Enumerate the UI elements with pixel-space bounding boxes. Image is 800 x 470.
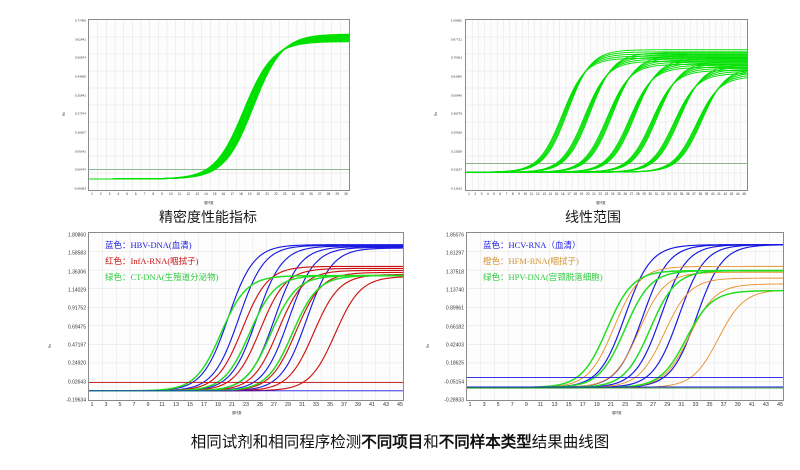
x-tick-label: 7	[511, 403, 514, 408]
x-tick-label: 2	[100, 193, 102, 196]
main-caption-part-0: 相同试剂和相同程序检测	[191, 434, 362, 451]
x-tick-label: 23	[605, 193, 609, 196]
y-tick-label: -0.08383	[74, 187, 86, 190]
x-tick-label: 5	[493, 193, 495, 196]
x-tick-label: 8	[152, 193, 154, 196]
x-tick-label: 39	[355, 403, 361, 408]
x-tick-label: 4	[117, 193, 119, 196]
chart-panel-linearity: Rn 1.000820.877210.753610.630000.506400.…	[428, 8, 758, 228]
x-tick-label: 27	[318, 193, 322, 196]
precision-y-tick-labels: 0.774080.629410.506740.446060.358410.270…	[58, 21, 86, 189]
x-tick-label: 19	[248, 193, 252, 196]
y-tick-label: 0.00474	[75, 169, 86, 172]
x-tick-label: 14	[548, 193, 552, 196]
x-tick-label: 32	[661, 193, 665, 196]
x-tick-label: 19	[594, 403, 600, 408]
x-tick-label: 38	[698, 193, 702, 196]
x-tick-label: 2	[474, 193, 476, 196]
x-tick-label: 16	[561, 193, 565, 196]
y-tick-label: 0.25918	[451, 131, 462, 134]
y-tick-label: -0.05154	[444, 380, 464, 385]
x-tick-label: 1	[91, 403, 94, 408]
x-tick-label: 15	[213, 193, 217, 196]
swab-legend: 蓝色：HCV-RNA（血清） 橙色：HFM-RNA(咽拭子) 绿色：HPV-DN…	[483, 237, 603, 285]
x-tick-label: 1	[468, 193, 470, 196]
y-tick-label: 0.13558	[451, 150, 462, 153]
y-tick-label: 0.62941	[75, 38, 86, 41]
serum-legend: 蓝色：HBV-DNA(血清) 红色：InfA-RNA(咽拭子) 绿色：CT-DN…	[105, 237, 219, 285]
x-tick-label: 9	[161, 193, 163, 196]
x-tick-label: 30	[344, 193, 348, 196]
precision-plot-frame	[88, 19, 350, 191]
x-tick-label: 6	[499, 193, 501, 196]
x-tick-label: 29	[664, 403, 670, 408]
x-tick-label: 11	[159, 403, 165, 408]
y-tick-label: 1.58583	[68, 252, 86, 257]
x-tick-label: 18	[573, 193, 577, 196]
main-caption-part-2: 和	[423, 434, 439, 451]
y-tick-label: 1.61297	[446, 252, 464, 257]
x-tick-label: 7	[133, 403, 136, 408]
x-tick-label: 29	[642, 193, 646, 196]
linearity-caption: 线性范围	[428, 207, 758, 227]
serum-plot-frame: 蓝色：HBV-DNA(血清) 红色：InfA-RNA(咽拭子) 绿色：CT-DN…	[88, 232, 404, 401]
precision-x-axis-title: 循环数	[204, 200, 214, 205]
serum-x-axis-title: 循环数	[232, 410, 242, 415]
x-tick-label: 43	[383, 403, 389, 408]
x-tick-label: 35	[707, 403, 713, 408]
x-tick-label: 33	[313, 403, 319, 408]
x-tick-label: 7	[144, 193, 146, 196]
chart-panel-multi-target-serum: Rn 1.808601.585831.363061.140290.917520.…	[46, 228, 411, 418]
x-tick-label: 5	[497, 403, 500, 408]
x-tick-label: 43	[730, 193, 734, 196]
y-tick-label: 1.13740	[446, 289, 464, 294]
main-caption-part-3: 不同样本类型	[439, 434, 532, 451]
x-tick-label: 44	[736, 193, 740, 196]
y-tick-label: 1.36306	[68, 270, 86, 275]
serum-legend-row-red: 红色：InfA-RNA(咽拭子)	[105, 253, 219, 269]
y-tick-label: 0.89961	[446, 307, 464, 312]
y-tick-label: 0.69475	[68, 325, 86, 330]
x-tick-label: 31	[655, 193, 659, 196]
x-tick-label: 13	[552, 403, 558, 408]
x-tick-label: 27	[630, 193, 634, 196]
x-tick-label: 6	[135, 193, 137, 196]
x-tick-label: 19	[580, 193, 584, 196]
x-tick-label: 29	[335, 193, 339, 196]
precision-x-tick-labels: 1234567891011121314151617181920212223242…	[88, 193, 350, 203]
x-tick-label: 20	[586, 193, 590, 196]
x-tick-label: 43	[763, 403, 769, 408]
chart-panel-precision: Rn 0.774080.629410.506740.446060.358410.…	[58, 8, 358, 228]
x-tick-label: 11	[538, 403, 544, 408]
x-tick-label: 29	[285, 403, 291, 408]
y-tick-label: 0.35841	[75, 94, 86, 97]
x-tick-label: 13	[195, 193, 199, 196]
x-tick-label: 1	[469, 403, 472, 408]
x-tick-label: 34	[673, 193, 677, 196]
x-tick-label: 40	[711, 193, 715, 196]
x-tick-label: 41	[369, 403, 375, 408]
x-tick-label: 5	[119, 403, 122, 408]
x-tick-label: 35	[680, 193, 684, 196]
y-tick-label: 0.63000	[451, 75, 462, 78]
x-tick-label: 25	[300, 193, 304, 196]
x-tick-label: 21	[265, 193, 269, 196]
serum-legend-row-blue: 蓝色：HBV-DNA(血清)	[105, 237, 219, 253]
y-tick-label: 0.42403	[446, 344, 464, 349]
serum-y-tick-labels: 1.808601.585831.363061.140290.917520.694…	[46, 236, 86, 401]
y-tick-label: 0.66182	[446, 325, 464, 330]
x-tick-label: 25	[257, 403, 263, 408]
y-tick-label: 0.50640	[451, 94, 462, 97]
x-tick-label: 45	[742, 193, 746, 196]
x-tick-label: 17	[580, 403, 586, 408]
x-tick-label: 45	[777, 403, 783, 408]
y-tick-label: 0.38279	[451, 113, 462, 116]
x-tick-label: 3	[483, 403, 486, 408]
x-tick-label: 35	[327, 403, 333, 408]
x-tick-label: 24	[292, 193, 296, 196]
y-tick-label: 0.91752	[68, 307, 86, 312]
x-tick-label: 1	[91, 193, 93, 196]
x-tick-label: 3	[105, 403, 108, 408]
swab-legend-row-blue: 蓝色：HCV-RNA（血清）	[483, 237, 603, 253]
swab-x-axis-title: 循环数	[612, 410, 622, 415]
x-tick-label: 27	[271, 403, 277, 408]
y-tick-label: 1.80860	[68, 234, 86, 239]
x-tick-label: 31	[299, 403, 305, 408]
y-tick-label: 0.87721	[451, 38, 462, 41]
linearity-x-tick-labels: 1234567891011121314151617181920212223242…	[465, 193, 748, 203]
swab-x-tick-labels: 1357911131517192123252729313335373941434…	[466, 403, 784, 415]
y-tick-label: -0.19634	[66, 399, 86, 404]
x-tick-label: 15	[187, 403, 193, 408]
x-tick-label: 17	[201, 403, 207, 408]
y-tick-label: 1.14029	[68, 289, 86, 294]
x-tick-label: 22	[274, 193, 278, 196]
y-tick-label: 1.00082	[451, 19, 462, 22]
chart-panel-multi-target-swab: Rn 1.850761.612971.375181.137400.899610.…	[424, 228, 794, 418]
y-tick-label: 0.24920	[68, 362, 86, 367]
x-tick-label: 39	[735, 403, 741, 408]
x-tick-label: 28	[327, 193, 331, 196]
y-tick-label: 0.44606	[75, 75, 86, 78]
x-tick-label: 11	[530, 193, 533, 196]
x-tick-label: 36	[686, 193, 690, 196]
x-tick-label: 31	[678, 403, 684, 408]
precision-curves	[89, 20, 349, 190]
x-tick-label: 23	[243, 403, 249, 408]
y-tick-label: 0.50674	[75, 57, 86, 60]
x-tick-label: 13	[542, 193, 546, 196]
y-tick-label: 0.02643	[68, 380, 86, 385]
y-tick-label: -0.28933	[444, 399, 464, 404]
x-tick-label: 18	[239, 193, 243, 196]
x-tick-label: 25	[636, 403, 642, 408]
x-tick-label: 37	[341, 403, 347, 408]
x-tick-label: 12	[187, 193, 191, 196]
x-tick-label: 37	[692, 193, 696, 196]
x-tick-label: 15	[555, 193, 559, 196]
x-tick-label: 26	[623, 193, 627, 196]
figure-page: Rn 0.774080.629410.506740.446060.358410.…	[0, 0, 800, 470]
x-tick-label: 20	[257, 193, 261, 196]
x-tick-label: 11	[178, 193, 181, 196]
x-tick-label: 25	[617, 193, 621, 196]
x-tick-label: 27	[650, 403, 656, 408]
swab-legend-row-orange: 橙色：HFM-RNA(咽拭子)	[483, 253, 603, 269]
x-tick-label: 10	[523, 193, 527, 196]
y-tick-label: 1.85076	[446, 234, 464, 239]
x-tick-label: 4	[487, 193, 489, 196]
serum-x-tick-labels: 1357911131517192123252729313335373941434…	[88, 403, 404, 415]
linearity-y-tick-labels: 1.000820.877210.753610.630000.506400.382…	[428, 21, 462, 189]
x-tick-label: 45	[397, 403, 403, 408]
x-tick-label: 5	[126, 193, 128, 196]
x-tick-label: 3	[109, 193, 111, 196]
x-tick-label: 33	[692, 403, 698, 408]
x-tick-label: 9	[518, 193, 520, 196]
x-tick-label: 22	[598, 193, 602, 196]
main-caption-part-4: 结果曲线图	[532, 434, 610, 451]
x-tick-label: 30	[648, 193, 652, 196]
y-tick-label: 0.47197	[68, 344, 86, 349]
x-tick-label: 15	[566, 403, 572, 408]
x-tick-label: 21	[608, 403, 614, 408]
x-tick-label: 16	[222, 193, 226, 196]
x-tick-label: 9	[147, 403, 150, 408]
x-tick-label: 41	[749, 403, 755, 408]
x-tick-label: 9	[525, 403, 528, 408]
linearity-x-axis-title: 循环数	[596, 200, 606, 205]
x-tick-label: 26	[309, 193, 313, 196]
serum-legend-row-green: 绿色：CT-DNA(生殖道分泌物)	[105, 269, 219, 285]
x-tick-label: 10	[169, 193, 173, 196]
y-tick-label: 0.01197	[451, 169, 462, 172]
y-tick-label: 1.37518	[446, 270, 464, 275]
y-tick-label: 0.18625	[446, 362, 464, 367]
x-tick-label: 7	[506, 193, 508, 196]
x-tick-label: 8	[512, 193, 514, 196]
linearity-curves	[466, 20, 747, 190]
swab-plot-frame: 蓝色：HCV-RNA（血清） 橙色：HFM-RNA(咽拭子) 绿色：HPV-DN…	[466, 232, 784, 401]
swab-y-tick-labels: 1.850761.612971.375181.137400.899610.661…	[424, 236, 464, 401]
y-tick-label: 0.18207	[75, 131, 86, 134]
x-tick-label: 12	[536, 193, 540, 196]
linearity-plot-frame	[465, 19, 748, 191]
x-tick-label: 39	[705, 193, 709, 196]
x-tick-label: 14	[204, 193, 208, 196]
main-caption: 相同试剂和相同程序检测不同项目和不同样本类型结果曲线图	[0, 430, 800, 452]
x-tick-label: 21	[592, 193, 596, 196]
x-tick-label: 23	[622, 403, 628, 408]
x-tick-label: 13	[173, 403, 179, 408]
x-tick-label: 19	[215, 403, 221, 408]
main-caption-part-1: 不同项目	[361, 434, 423, 451]
x-tick-label: 41	[717, 193, 721, 196]
x-tick-label: 17	[567, 193, 571, 196]
x-tick-label: 3	[481, 193, 483, 196]
y-tick-label: 0.77408	[75, 19, 86, 22]
x-tick-label: 23	[283, 193, 287, 196]
x-tick-label: 24	[611, 193, 615, 196]
x-tick-label: 33	[667, 193, 671, 196]
x-tick-label: 17	[230, 193, 234, 196]
y-tick-label: 0.27074	[75, 113, 86, 116]
x-tick-label: 21	[229, 403, 235, 408]
y-tick-label: 0.09341	[75, 150, 86, 153]
y-tick-label: 0.75361	[451, 57, 462, 60]
precision-caption: 精密度性能指标	[58, 207, 358, 227]
y-tick-label: -0.11163	[450, 187, 462, 190]
x-tick-label: 28	[636, 193, 640, 196]
x-tick-label: 42	[723, 193, 727, 196]
swab-legend-row-green: 绿色：HPV-DNA(宫颈脱落细胞)	[483, 269, 603, 285]
x-tick-label: 37	[721, 403, 727, 408]
